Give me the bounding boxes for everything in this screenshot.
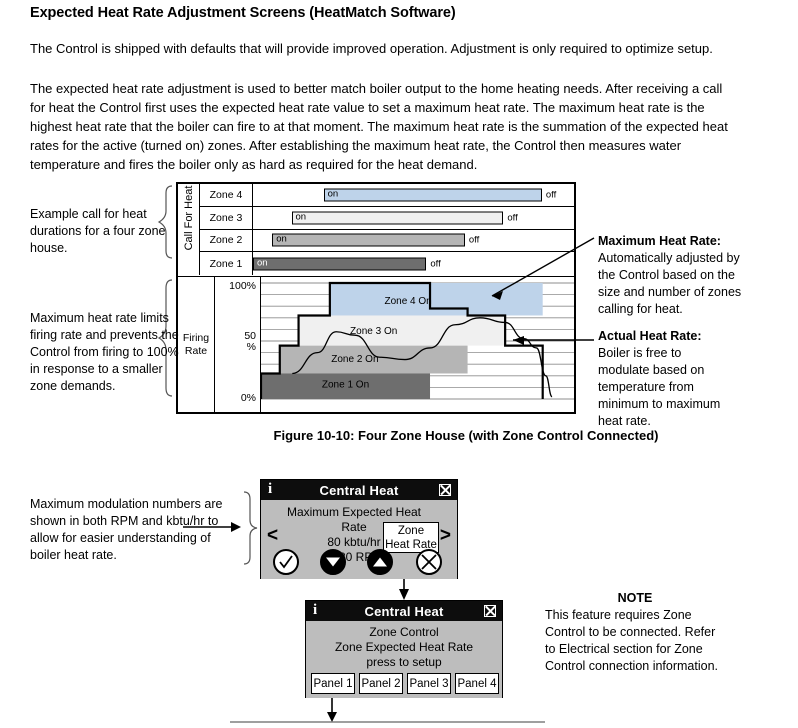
close-icon[interactable]: [439, 484, 451, 496]
device2-line-2: Zone Expected Heat Rate: [306, 640, 502, 655]
zone-on-bar: on: [292, 211, 504, 224]
figure-caption: Figure 10-10: Four Zone House (with Zone…: [176, 428, 756, 443]
zone-row-track: onoff: [253, 207, 574, 229]
info-icon: i: [313, 602, 317, 619]
device1-title-bar: i Central Heat: [261, 480, 457, 500]
zone-row-name: Zone 3: [200, 207, 253, 229]
panel-button[interactable]: Panel 4: [455, 673, 499, 694]
zone-area-label: Zone 3 On: [350, 326, 397, 337]
zone-area-label: Zone 2 On: [331, 354, 378, 365]
zone-row-name: Zone 4: [200, 184, 253, 206]
zone-off-label: off: [507, 212, 517, 223]
call-for-heat-label: Call For Heat: [183, 172, 195, 264]
firing-rate-label: FiringRate: [178, 277, 215, 412]
firing-rate-axis: 100% 50% 0%: [215, 277, 261, 412]
callout-actual-heat-rate-head: Actual Heat Rate:: [598, 329, 702, 343]
device2-title-bar: i Central Heat: [306, 601, 502, 621]
device2-line-3: press to setup: [306, 655, 502, 670]
device2-title: Central Heat: [306, 604, 502, 619]
zone-area-label: Zone 4 On: [384, 296, 431, 307]
device2-body: Zone Control Zone Expected Heat Rate pre…: [306, 621, 502, 698]
zone-off-label: off: [469, 235, 479, 246]
cancel-button[interactable]: [416, 549, 442, 575]
zone-row-track: onoff: [253, 230, 574, 252]
up-button[interactable]: [367, 549, 393, 575]
next-arrow-icon[interactable]: >: [440, 526, 451, 545]
zone-area-label: Zone 1 On: [322, 379, 369, 390]
zone-heat-rate-label-1: Zone: [384, 524, 438, 538]
device2-readout: Zone Control Zone Expected Heat Rate pre…: [306, 625, 502, 670]
note-block: NOTE This feature requires Zone Control …: [545, 590, 725, 675]
prev-arrow-icon[interactable]: <: [267, 526, 278, 545]
callout-max-heat-rate-body: Automatically adjusted by the Control ba…: [598, 251, 741, 316]
zone-area: [299, 315, 506, 345]
zone-off-label: off: [430, 258, 440, 269]
zone-off-label: off: [546, 189, 556, 200]
callout-left-3: Maximum modulation numbers are shown in …: [30, 496, 230, 564]
page-title: Expected Heat Rate Adjustment Screens (H…: [30, 5, 770, 21]
close-icon[interactable]: [484, 605, 496, 617]
panel-button[interactable]: Panel 2: [359, 673, 403, 694]
axis-tick-50: 50%: [244, 331, 256, 353]
device1-body: Maximum Expected Heat Rate 80 kbtu/hr 44…: [261, 500, 457, 579]
zone-row-name: Zone 1: [200, 252, 253, 275]
zone-row: Zone 2onoff: [200, 230, 574, 253]
device2-line-1: Zone Control: [306, 625, 502, 640]
note-body: This feature requires Zone Control to be…: [545, 607, 725, 675]
info-icon: i: [268, 481, 272, 498]
central-heat-screen-2[interactable]: i Central Heat Zone Control Zone Expecte…: [305, 600, 503, 698]
callout-actual-heat-rate-body: Boiler is free to modulate based on temp…: [598, 346, 720, 428]
intro-paragraph-1: The Control is shipped with defaults tha…: [30, 39, 730, 58]
zone-on-bar: on: [272, 234, 465, 247]
callout-actual-heat-rate: Actual Heat Rate: Boiler is free to modu…: [598, 328, 733, 430]
down-button[interactable]: [320, 549, 346, 575]
device1-title: Central Heat: [261, 483, 457, 498]
callout-left-1: Example call for heat durations for a fo…: [30, 206, 170, 257]
firing-rate-area: FiringRate 100% 50% 0% Zone 1 OnZone 2 O…: [178, 276, 574, 412]
check-button[interactable]: [273, 549, 299, 575]
zone-row-name: Zone 2: [200, 230, 253, 252]
zone-area: [330, 283, 543, 315]
zone-row: Zone 3onoff: [200, 207, 574, 230]
firing-rate-chart: Zone 1 OnZone 2 OnZone 3 OnZone 4 On: [261, 277, 574, 412]
call-for-heat-label-cell: Call For Heat: [178, 184, 200, 275]
zone-on-bar: on: [253, 257, 426, 270]
intro-paragraph-2: The expected heat rate adjustment is use…: [30, 79, 730, 174]
panel-button[interactable]: Panel 3: [407, 673, 451, 694]
zone-row: Zone 1onoff: [200, 252, 574, 275]
firing-rate-plot: Zone 1 OnZone 2 OnZone 3 OnZone 4 On: [261, 277, 574, 411]
zone-row-track: onoff: [253, 184, 574, 206]
callout-max-heat-rate: Maximum Heat Rate: Automatically adjuste…: [598, 233, 743, 318]
axis-tick-0: 0%: [241, 393, 256, 404]
panel-button[interactable]: Panel 1: [311, 673, 355, 694]
callout-left-2: Maximum heat rate limits firing rate and…: [30, 310, 180, 395]
note-heading: NOTE: [545, 590, 725, 607]
zone-on-bar: on: [324, 188, 542, 201]
central-heat-screen-1[interactable]: i Central Heat Maximum Expected Heat Rat…: [260, 479, 458, 579]
firing-rate-label-text: FiringRate: [183, 332, 209, 358]
callout-max-heat-rate-head: Maximum Heat Rate:: [598, 234, 721, 248]
zone-row-track: onoff: [253, 252, 574, 275]
axis-tick-100: 100%: [229, 281, 256, 292]
zone-row: Zone 4onoff: [200, 184, 574, 207]
